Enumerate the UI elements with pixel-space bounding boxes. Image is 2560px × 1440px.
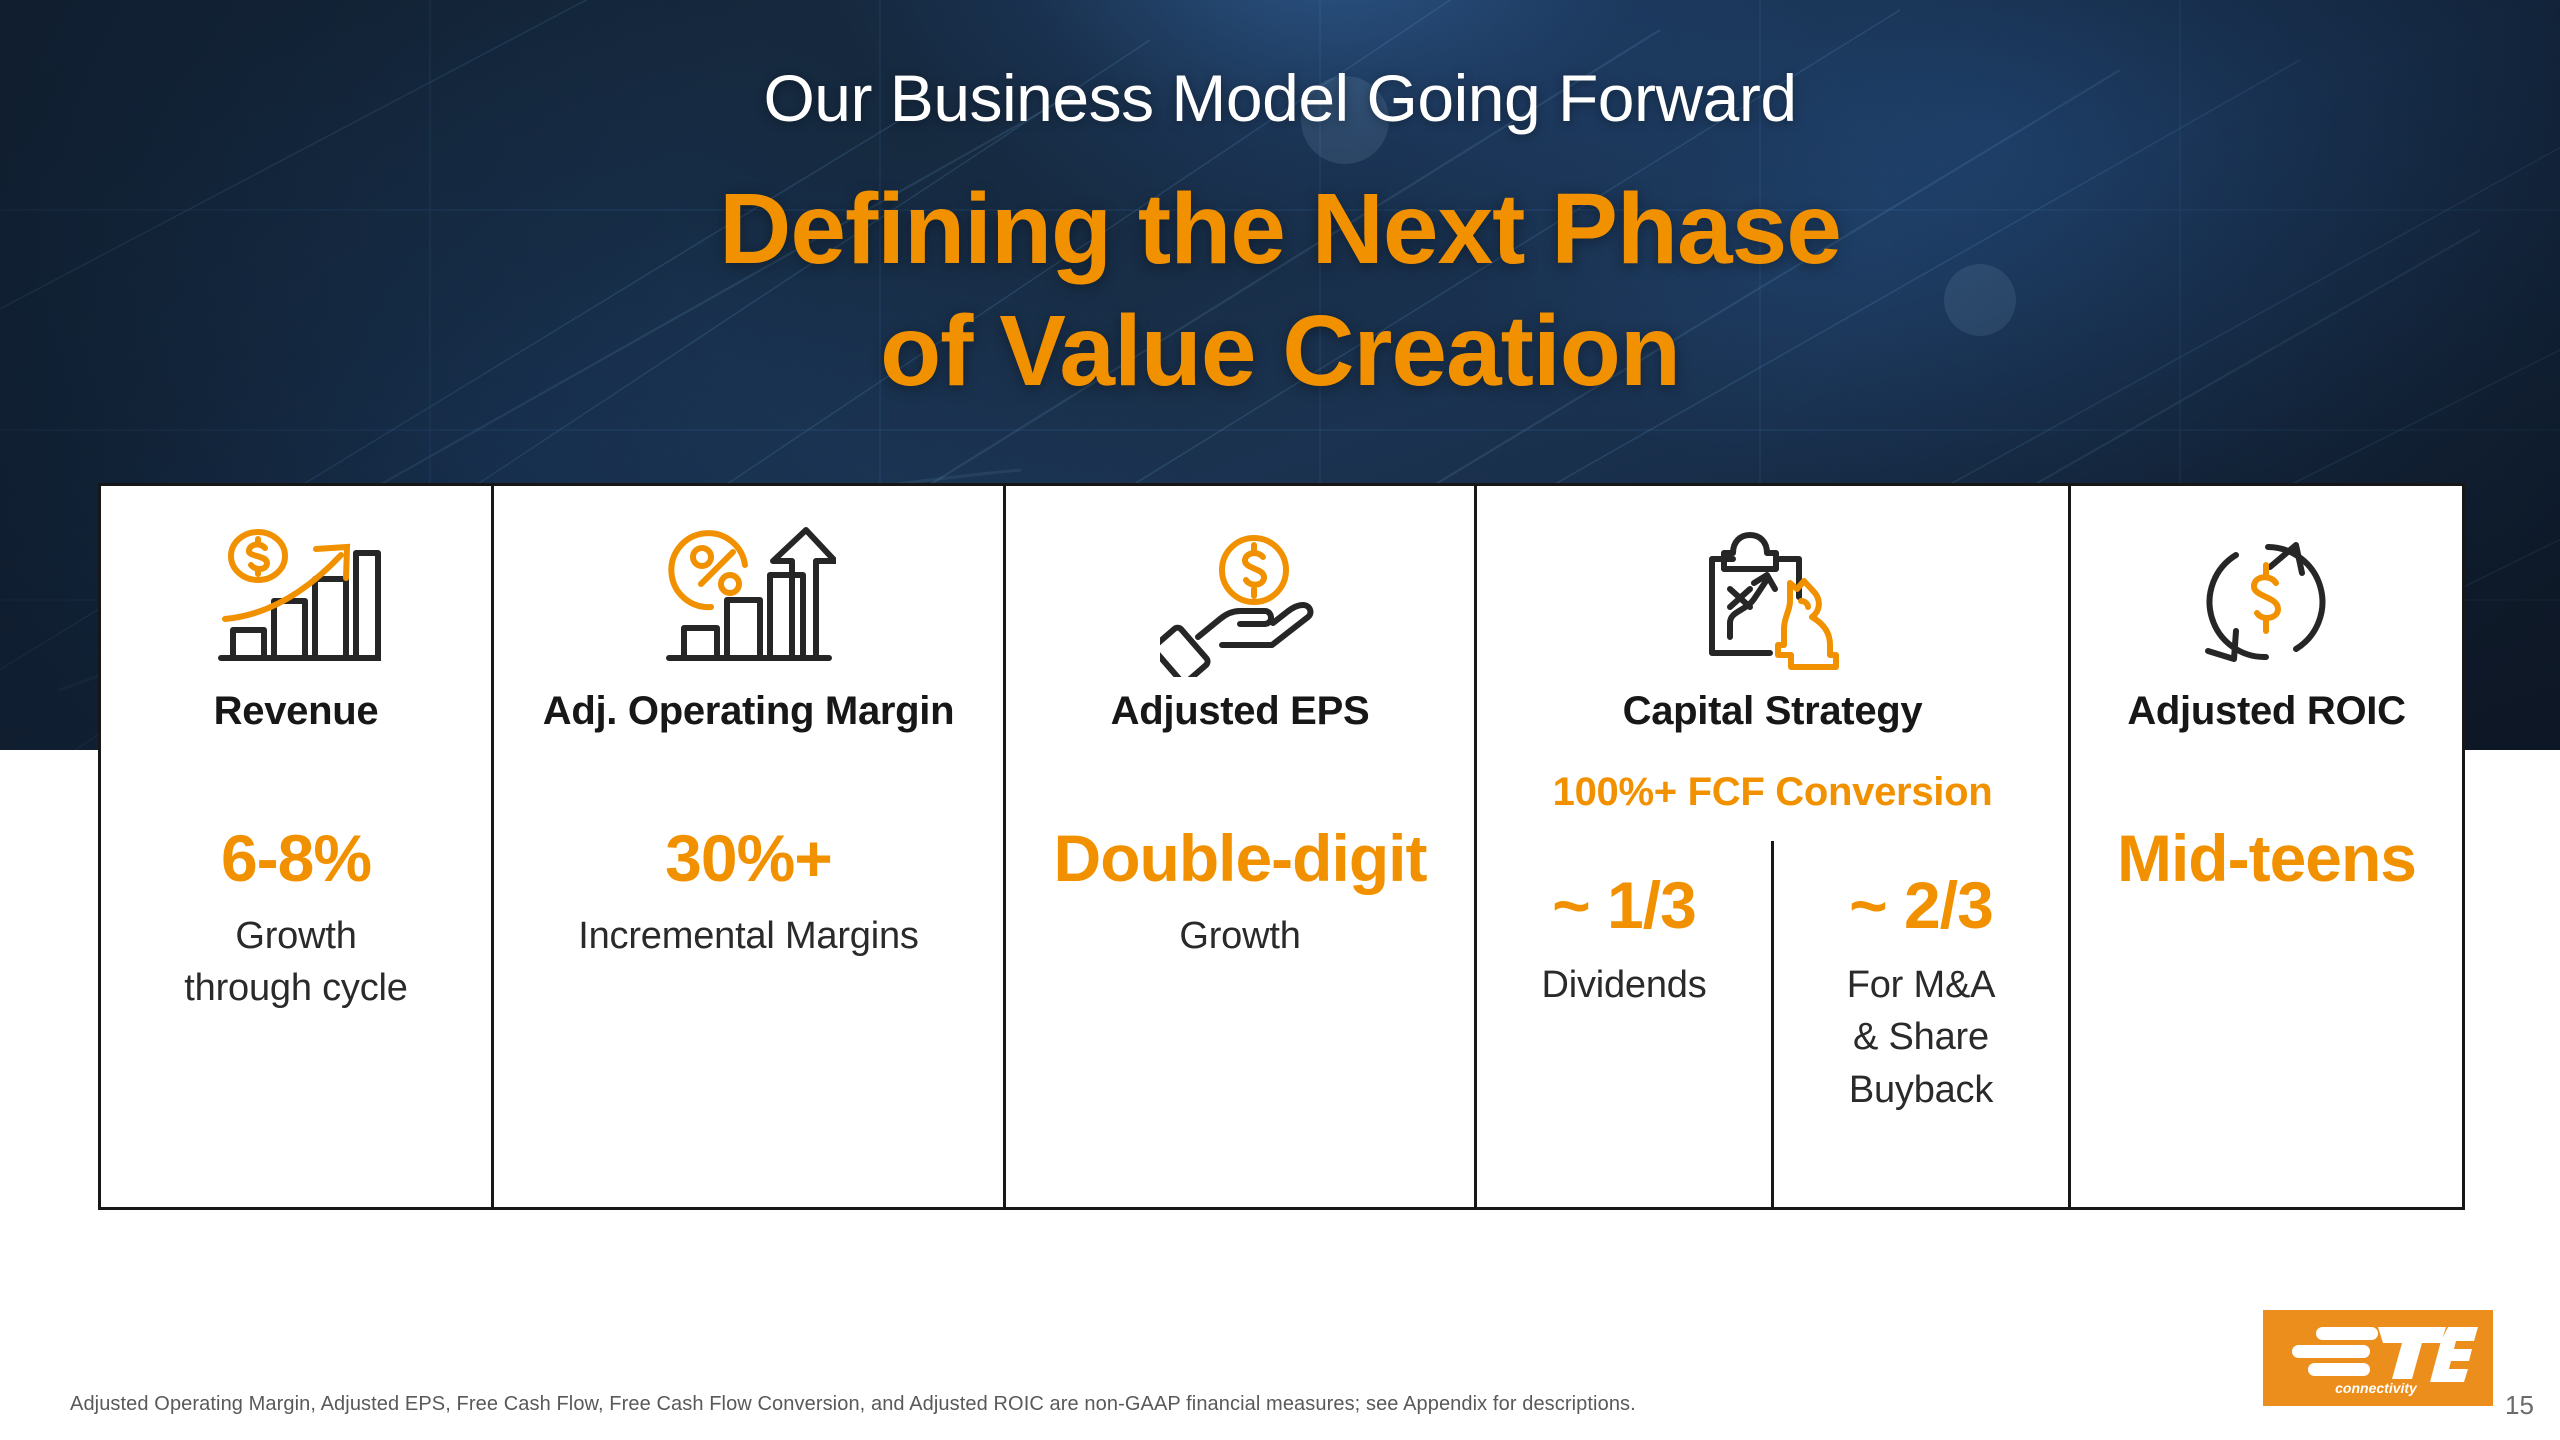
card-title: Adjusted EPS <box>1111 689 1370 734</box>
card-description: Incremental Margins <box>578 910 918 962</box>
card-value: Mid-teens <box>2117 820 2416 896</box>
metric-card-revenue[interactable]: Revenue 6-8% Growth through cycle <box>101 486 494 1207</box>
card-description-line-2: & Share <box>1847 1011 1996 1063</box>
card-body: Mid-teens <box>2071 734 2462 1207</box>
card-description-line-1: For M&A <box>1847 959 1996 1011</box>
page-title-line-1: Defining the Next Phase <box>0 168 2560 290</box>
logo-tagline: connectivity <box>2335 1380 2418 1396</box>
card-body-split: ~ 1/3 Dividends ~ 2/3 For M&A & Share Bu… <box>1477 841 2068 1207</box>
page-title-line-2: of Value Creation <box>0 290 2560 412</box>
metric-card-capital-strategy[interactable]: Capital Strategy 100%+ FCF Conversion ~ … <box>1477 486 2071 1207</box>
clipboard-strategy-chess-knight-icon <box>1688 514 1858 689</box>
card-description: Growth through cycle <box>184 910 407 1015</box>
card-value: 30%+ <box>665 820 832 896</box>
card-title: Adj. Operating Margin <box>543 689 955 734</box>
card-description-line-2: through cycle <box>184 962 407 1014</box>
card-value: Double-digit <box>1054 820 1427 896</box>
card-description-line-1: Growth <box>184 910 407 962</box>
slide: Our Business Model Going Forward Definin… <box>0 0 2560 1440</box>
card-description-line-3: Buyback <box>1847 1064 1996 1116</box>
card-description-line-1: Growth <box>1179 910 1300 962</box>
bar-chart-growth-dollar-icon <box>211 514 381 689</box>
circular-arrows-dollar-icon <box>2192 514 2342 689</box>
card-title: Adjusted ROIC <box>2127 689 2405 734</box>
card-description-line-1: Dividends <box>1541 959 1706 1011</box>
card-body: 6-8% Growth through cycle <box>101 734 491 1207</box>
card-description: For M&A & Share Buyback <box>1847 959 1996 1116</box>
card-description: Dividends <box>1541 959 1706 1011</box>
footnote: Adjusted Operating Margin, Adjusted EPS,… <box>70 1393 1636 1416</box>
card-description: Growth <box>1179 910 1300 962</box>
card-description-line-1: Incremental Margins <box>578 910 918 962</box>
page-eyebrow: Our Business Model Going Forward <box>0 60 2560 136</box>
card-body: Double-digit Growth <box>1006 734 1474 1207</box>
card-title: Capital Strategy <box>1623 689 1923 734</box>
card-subtitle-accent: 100%+ FCF Conversion <box>1553 770 1993 815</box>
page-number: 15 <box>2505 1390 2534 1421</box>
te-logo-icon: connectivity <box>2278 1319 2478 1397</box>
metrics-strip: Revenue 6-8% Growth through cycle <box>98 483 2465 1210</box>
card-body: 30%+ Incremental Margins <box>494 734 1003 1207</box>
metric-card-adjusted-roic[interactable]: Adjusted ROIC Mid-teens <box>2071 486 2462 1207</box>
te-connectivity-logo: connectivity <box>2263 1310 2493 1406</box>
bar-chart-percent-arrow-up-icon <box>661 514 836 689</box>
hand-holding-coin-icon <box>1160 514 1320 689</box>
card-value: ~ 1/3 <box>1552 867 1696 943</box>
page-title: Defining the Next Phase of Value Creatio… <box>0 168 2560 412</box>
metric-card-adjusted-eps[interactable]: Adjusted EPS Double-digit Growth <box>1006 486 1477 1207</box>
card-value: 6-8% <box>221 820 371 896</box>
metric-card-adj-operating-margin[interactable]: Adj. Operating Margin 30%+ Incremental M… <box>494 486 1006 1207</box>
card-title: Revenue <box>214 689 379 734</box>
capital-allocation-ma-buyback: ~ 2/3 For M&A & Share Buyback <box>1774 841 2068 1207</box>
card-value: ~ 2/3 <box>1849 867 1993 943</box>
capital-allocation-dividends: ~ 1/3 Dividends <box>1477 841 1774 1207</box>
